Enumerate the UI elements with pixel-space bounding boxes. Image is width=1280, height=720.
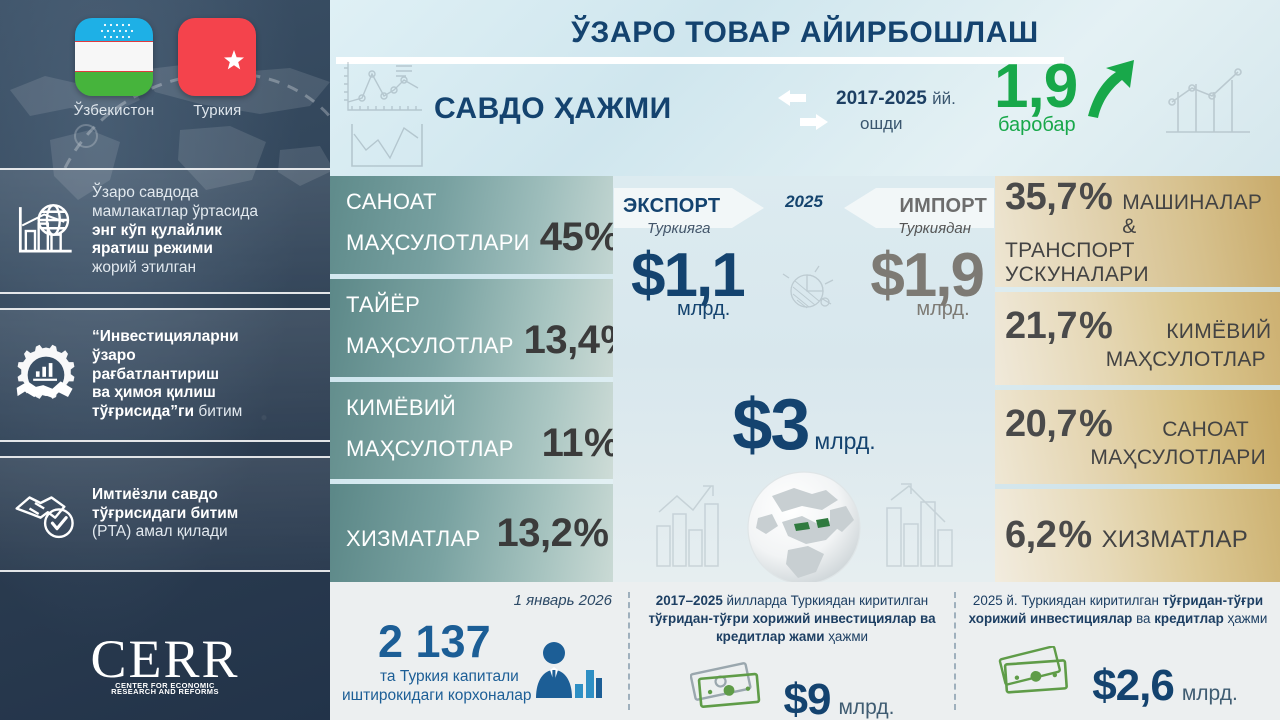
footer-date: 1 январь 2026 [514,592,612,609]
import-sublabel: Туркиядан [898,220,971,237]
block2-bold2: ўзаро [92,347,136,364]
footer-fdi-total[interactable]: 2017–2025 йилларда Туркиядан киритилган … [630,582,954,720]
fdi-2025-head1b: тўғридан-тўғри [1163,593,1263,608]
bar-chart-arrow-icon-left [653,482,725,568]
sidebar: Ўзбекистон Туркия [0,0,330,720]
businessman-bars-icon [530,640,602,704]
cerr-logo-sub2: RESEARCH AND REFORMS [0,687,330,696]
bar-chart-arrow-icon-right [883,478,959,568]
fdi-2025-head2b: ва [1132,611,1154,626]
export-row-2[interactable]: ТАЙЁР МАҲСУЛОТЛАР13,4% [330,279,613,377]
cerr-logo-text: CERR [0,634,330,685]
export-row-4-cat2: ХИЗМАТЛАР [346,526,481,552]
export-row-1-value: 45 [540,215,584,260]
fdi-total-amount: $9 [784,675,831,720]
bar-line-chart-icon [1162,62,1254,142]
title-underline [336,57,1064,64]
center-panel: ЭКСПОРТ ИМПОРТ Туркияга Туркиядан 2025 $… [613,176,995,582]
country-label-uzbekistan: Ўзбекистон [74,102,155,119]
export-row-4[interactable]: ХИЗМАТЛАР13,2% [330,484,613,582]
total-trade-volume: $3млрд. [613,384,995,466]
multiplier-unit: баробар [998,115,1077,135]
pie-chart-icon [781,264,835,318]
export-categories-list: САНОАТ МАҲСУЛОТЛАРИ45% ТАЙЁР МАҲСУЛОТЛАР… [330,176,613,582]
handshake-check-icon [10,478,82,550]
sidebar-block-pta[interactable]: Имтиёзли савдо тўғрисидаги битим (PTA) а… [0,456,330,572]
export-row-3-value: 11 [542,421,583,466]
block2-bold5: тўғрисида”ги [92,403,194,420]
export-row-1-cat1: САНОАТ [346,189,437,215]
block2-bold3: рағбатлантириш [92,366,219,383]
fdi-2025-unit: млрд. [1182,682,1238,706]
import-row-3-percent: % [1079,403,1112,446]
footer: 1 январь 2026 2 137 та Туркия капитали и… [330,582,1280,720]
export-row-4-percent: % [573,511,608,556]
block3-bold1: Имтиёзли савдо [92,486,218,503]
block1-line2: мамлакатлар ўртасида [92,203,258,220]
export-row-2-value: 13,4 [524,318,600,363]
fdi-total-unit: млрд. [838,696,894,720]
growth-label: ошди [860,114,903,134]
block2-bold4: ва ҳимоя қилиш [92,384,216,401]
fdi-total-head3b: ҳажми [825,629,869,644]
import-row-1-value: 35,7 [1005,176,1077,219]
sidebar-block-2-text: “Инвестицияларни ўзаро рағбатлантириш ва… [92,328,242,423]
footer-fdi-total-head: 2017–2025 йилларда Туркиядан киритилган … [642,592,942,646]
period-label: 2017-2025 йй. [836,88,956,110]
total-value: $3 [732,385,808,465]
multiplier-value: 1,9 [994,62,1077,113]
export-amount: $1,1 млрд. [631,248,744,321]
import-row-4[interactable]: 6,2%ХИЗМАТЛАР [995,489,1280,582]
block2-bold1: “Инвестицияларни [92,328,239,345]
country-uzbekistan: Ўзбекистон [74,18,155,119]
country-flags: Ўзбекистон Туркия [0,18,330,119]
import-amount: $1,9 млрд. [870,248,983,321]
fdi-total-head2: тўғридан-тўғри хорижий инвестициялар ва [648,611,935,626]
banknotes-icon [690,660,776,714]
import-row-4-value: 6,2 [1005,514,1056,557]
turkey-flag-icon [178,18,256,96]
import-row-1-cat2: ТРАНСПОРТ УСКУНАЛАРИ [1005,239,1266,287]
export-row-1[interactable]: САНОАТ МАҲСУЛОТЛАРИ45% [330,176,613,274]
import-row-2-cat1: КИМЁВИЙ [1166,320,1271,344]
line-chart-icon [338,58,426,168]
sidebar-block-investment-agreement[interactable]: “Инвестицияларни ўзаро рағбатлантириш ва… [0,308,330,442]
cerr-logo[interactable]: CERR CENTER FOR ECONOMIC RESEARCH AND RE… [0,634,330,696]
import-row-3-value: 20,7 [1005,403,1077,446]
gear-handshake-icon [10,339,82,411]
import-row-2-cat2: МАҲСУЛОТЛАР [1106,348,1266,372]
import-row-2-percent: % [1079,305,1112,348]
fdi-2025-head2c: кредитлар [1154,611,1224,626]
period-range: 2017-2025 [836,88,927,109]
globe-bar-chart-icon [10,195,82,267]
footer-fdi-2025-head: 2025 й. Туркиядан киритилган тўғридан-тў… [968,592,1268,628]
export-row-4-value: 13,2 [497,511,573,556]
header: ЎЗАРО ТОВАР АЙИРБОШЛАШ САВДО ҲАЖМИ 2017-… [330,0,1280,176]
country-turkey: Туркия [178,18,256,119]
fdi-total-head1b: йилларда Туркиядан киритилган [723,593,928,608]
fdi-2025-amount: $2,6 [1092,661,1174,711]
up-arrow-icon [1086,58,1138,120]
block3-line1: (PTA) амал қилади [92,523,228,540]
fdi-2025-head1: 2025 й. Туркиядан киритилган [973,593,1163,608]
country-label-turkey: Туркия [193,102,241,119]
import-row-4-cat1: ХИЗМАТЛАР [1102,526,1248,554]
export-row-3-cat1: КИМЁВИЙ [346,395,456,421]
sidebar-block-3-text: Имтиёзли савдо тўғрисидаги битим (PTA) а… [92,486,238,543]
block1-line3: жорий этилган [92,259,196,276]
import-row-3-cat1: САНОАТ [1162,418,1249,442]
block1-line1: Ўзаро савдода [92,184,199,201]
sidebar-block-trade-regime[interactable]: Ўзаро савдода мамлакатлар ўртасида энг к… [0,168,330,294]
banknotes-icon-2 [998,646,1084,700]
import-row-2[interactable]: 21,7%КИМЁВИЙ МАҲСУЛОТЛАР [995,292,1280,385]
main-panel: ЎЗАРО ТОВАР АЙИРБОШЛАШ САВДО ҲАЖМИ 2017-… [330,0,1280,720]
fdi-2025-head2: хорижий инвестициялар [969,611,1133,626]
import-amount-value: $1,9 [870,248,983,304]
growth-multiplier: 1,9 баробар [994,62,1077,135]
fdi-2025-head2d: ҳажми [1224,611,1268,626]
exchange-arrows-icon [776,90,830,140]
block3-bold2: тўғрисидаги битим [92,505,238,522]
export-amount-value: $1,1 [631,248,744,304]
import-row-3[interactable]: 20,7%САНОАТ МАҲСУЛОТЛАРИ [995,390,1280,483]
year-label: 2025 [613,192,995,212]
export-row-2-cat1: ТАЙЁР [346,292,420,318]
import-categories-list: 35,7%МАШИНАЛАР & ТРАНСПОРТ УСКУНАЛАРИ 21… [995,176,1280,582]
export-row-2-cat2: МАҲСУЛОТЛАР [346,333,514,359]
trade-composition: САНОАТ МАҲСУЛОТЛАРИ45% ТАЙЁР МАҲСУЛОТЛАР… [330,176,1280,582]
uzbekistan-flag-icon [75,18,153,96]
block1-bold2: яратиш режими [92,240,213,257]
export-row-3[interactable]: КИМЁВИЙ МАҲСУЛОТЛАР11% [330,382,613,480]
block1-bold1: энг кўп қулайлик [92,222,222,239]
import-row-1-cat1: МАШИНАЛАР & [1122,191,1266,239]
footer-companies[interactable]: 1 январь 2026 2 137 та Туркия капитали и… [330,582,628,720]
globe-icon [742,466,866,590]
block2-tail: битим [198,403,242,420]
subtitle: САВДО ҲАЖМИ [434,92,672,126]
infographic-page: Ўзбекистон Туркия [0,0,1280,720]
import-row-1[interactable]: 35,7%МАШИНАЛАР & ТРАНСПОРТ УСКУНАЛАРИ [995,176,1280,287]
import-row-2-value: 21,7 [1005,305,1077,348]
export-sublabel: Туркияга [647,220,711,237]
sidebar-block-1-text: Ўзаро савдода мамлакатлар ўртасида энг к… [92,184,258,279]
page-title: ЎЗАРО ТОВАР АЙИРБОШЛАШ [330,16,1280,50]
total-unit: млрд. [814,428,875,454]
footer-fdi-2025[interactable]: 2025 й. Туркиядан киритилган тўғридан-тў… [956,582,1280,720]
import-row-4-percent: % [1058,514,1091,557]
import-row-1-percent: % [1079,176,1112,219]
fdi-total-years: 2017–2025 [656,593,723,608]
export-row-3-cat2: МАҲСУЛОТЛАР [346,436,514,462]
import-row-3-cat2: МАҲСУЛОТЛАРИ [1090,446,1266,470]
export-row-1-cat2: МАҲСУЛОТЛАРИ [346,230,530,256]
period-suffix: йй. [932,89,956,108]
fdi-total-head3: кредитлар жами [716,629,825,644]
